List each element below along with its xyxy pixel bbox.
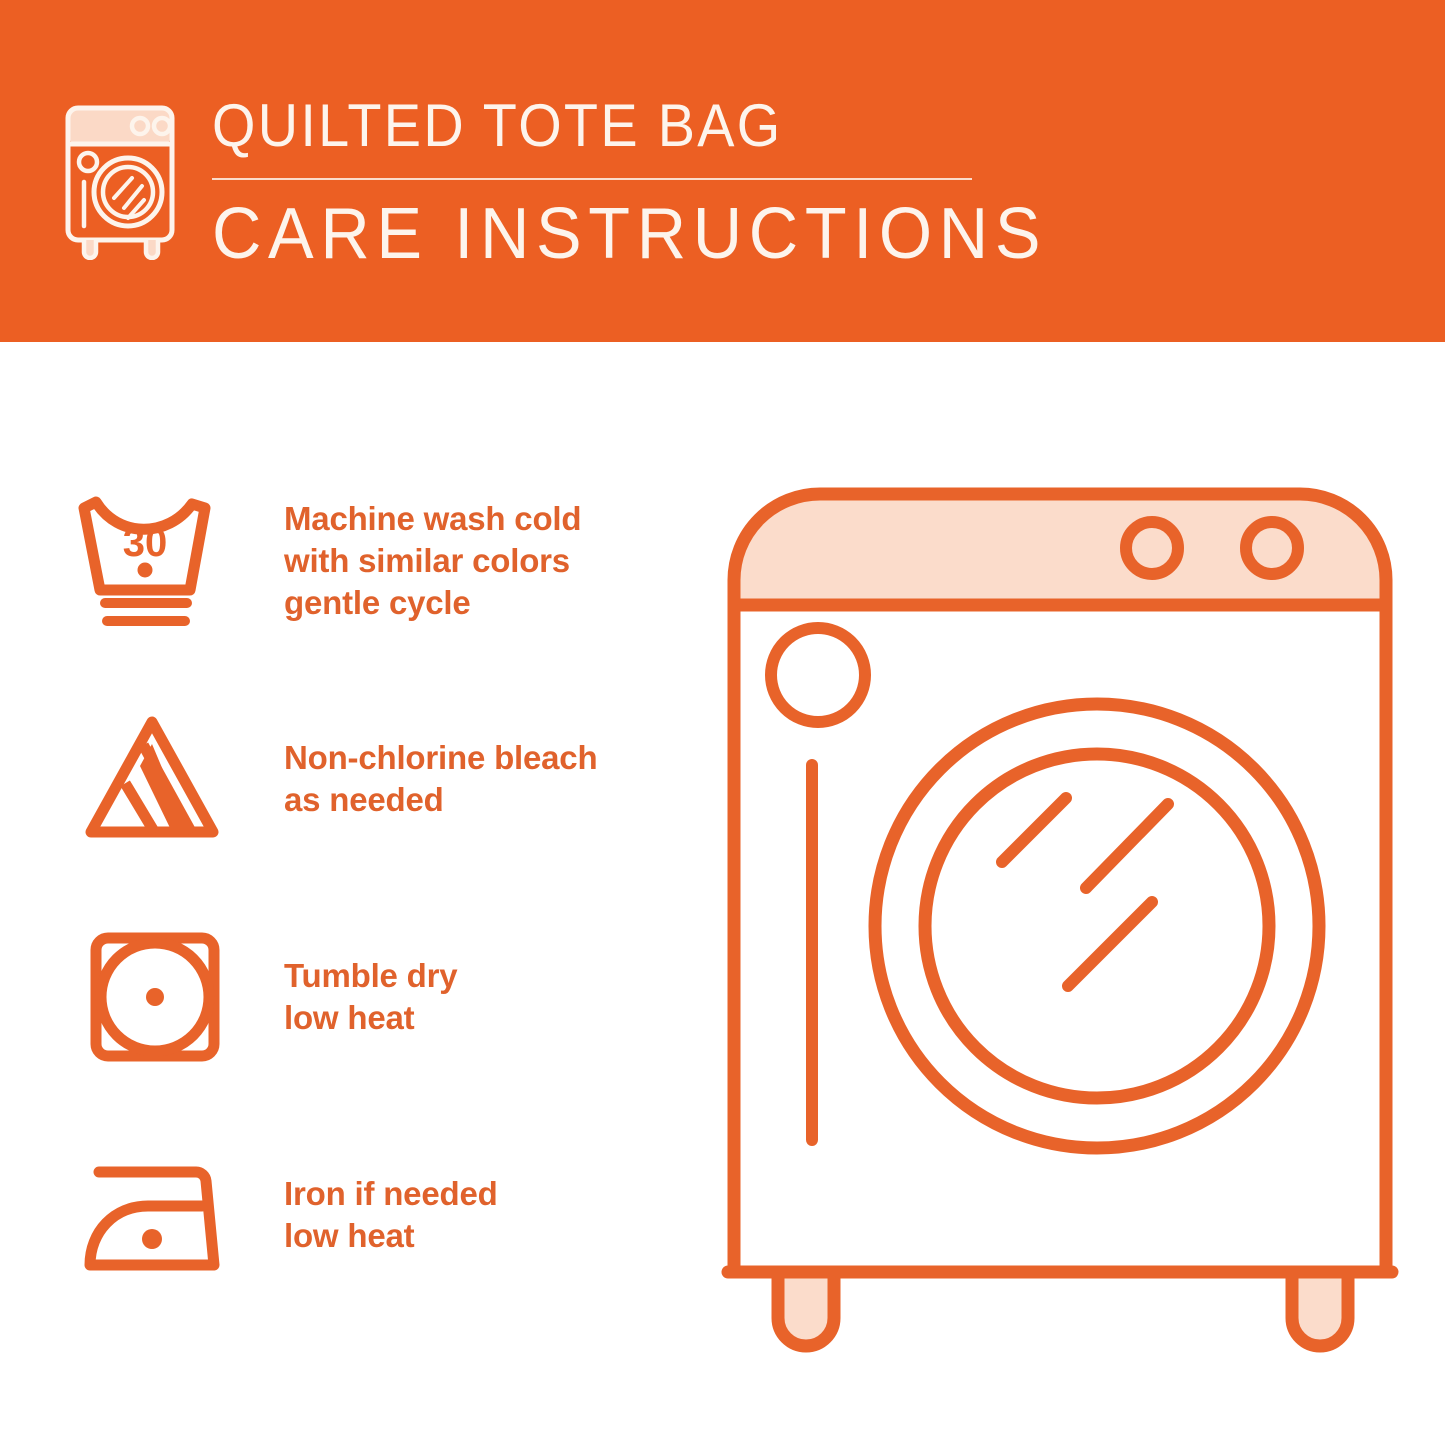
care-label-line: Iron if needed xyxy=(284,1173,498,1215)
care-label-bleach: Non-chlorine bleach as needed xyxy=(284,737,597,821)
wash-temperature-value: 30 xyxy=(123,521,168,565)
care-row-iron: Iron if needed low heat xyxy=(62,1124,682,1306)
washing-machine-icon xyxy=(62,100,180,260)
care-row-tumble-dry: Tumble dry low heat xyxy=(62,906,682,1088)
care-label-iron: Iron if needed low heat xyxy=(284,1173,498,1257)
care-row-bleach: Non-chlorine bleach as needed xyxy=(62,688,682,870)
care-label-line: low heat xyxy=(284,1215,498,1257)
care-label-line: Non-chlorine bleach xyxy=(284,737,597,779)
title-divider xyxy=(212,178,972,180)
care-row-machine-wash: 30 Machine wash cold with similar colors… xyxy=(62,470,682,652)
tumble-dry-low-symbol xyxy=(62,922,242,1072)
page-title: QUILTED TOTE BAG xyxy=(212,92,783,156)
care-label-line: as needed xyxy=(284,779,597,821)
care-label-line: low heat xyxy=(284,997,457,1039)
iron-low-heat-symbol xyxy=(62,1140,242,1290)
care-label-line: Machine wash cold xyxy=(284,498,581,540)
care-label-line: with similar colors xyxy=(284,540,581,582)
header-content: QUILTED TOTE BAG CARE INSTRUCTIONS xyxy=(62,92,1091,270)
care-label-machine-wash: Machine wash cold with similar colors ge… xyxy=(284,498,581,625)
care-label-tumble-dry: Tumble dry low heat xyxy=(284,955,457,1039)
care-instructions-list: 30 Machine wash cold with similar colors… xyxy=(62,470,682,1306)
content-area: 30 Machine wash cold with similar colors… xyxy=(0,342,1445,1445)
header-title-group: QUILTED TOTE BAG CARE INSTRUCTIONS xyxy=(212,92,1091,270)
care-label-line: Tumble dry xyxy=(284,955,457,997)
page-subtitle: CARE INSTRUCTIONS xyxy=(212,198,1047,270)
non-chlorine-bleach-symbol xyxy=(62,704,242,854)
washing-machine-illustration xyxy=(700,460,1420,1380)
header-band: QUILTED TOTE BAG CARE INSTRUCTIONS xyxy=(0,0,1445,342)
care-label-line: gentle cycle xyxy=(284,582,581,624)
machine-wash-30-gentle-symbol: 30 xyxy=(62,486,242,636)
